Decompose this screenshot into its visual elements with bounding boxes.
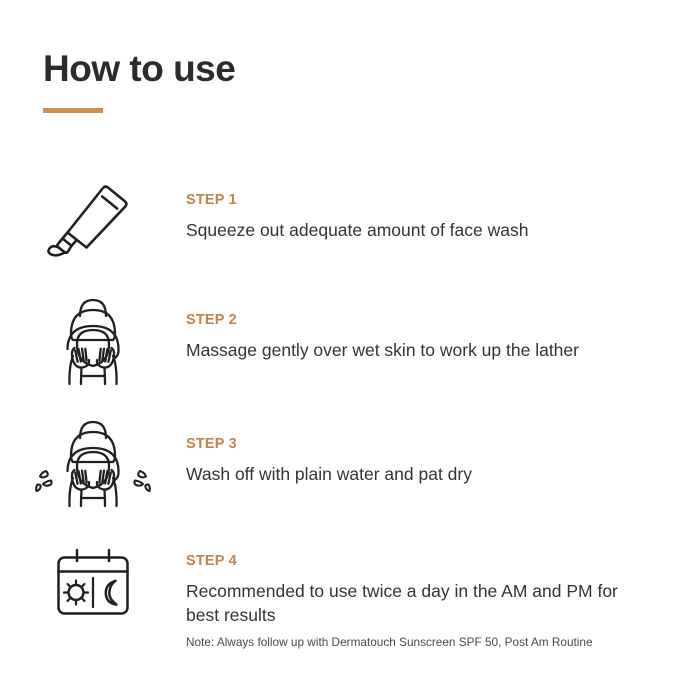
step-text: Squeeze out adequate amount of face wash [186,218,646,243]
step-text: Recommended to use twice a day in the AM… [186,579,646,629]
how-to-use-panel: How to use STEP 1 [0,0,700,700]
step-label: STEP 3 [186,437,700,452]
title-accent-rule [43,108,103,113]
list-item: STEP 3 Wash off with plain water and pat… [0,412,700,532]
step-label: STEP 2 [186,313,700,328]
step-note: Note: Always follow up with Dermatouch S… [186,635,700,650]
face-massage-icon [0,288,186,392]
face-rinse-splash-icon [0,412,186,514]
step-content: STEP 3 Wash off with plain water and pat… [186,412,700,486]
list-item: STEP 2 Massage gently over wet skin to w… [0,288,700,412]
calendar-sun-moon-icon [0,532,186,620]
step-content: STEP 4 Recommended to use twice a day in… [186,532,700,651]
step-label: STEP 1 [186,193,700,208]
list-item: STEP 1 Squeeze out adequate amount of fa… [0,168,700,288]
steps-list: STEP 1 Squeeze out adequate amount of fa… [0,168,700,652]
step-content: STEP 2 Massage gently over wet skin to w… [186,288,700,362]
header: How to use [43,50,235,113]
list-item: STEP 4 Recommended to use twice a day in… [0,532,700,652]
step-content: STEP 1 Squeeze out adequate amount of fa… [186,168,700,242]
page-title: How to use [43,50,235,89]
step-label: STEP 4 [186,554,700,569]
tube-squeeze-icon [0,168,186,266]
step-text: Massage gently over wet skin to work up … [186,338,646,363]
step-text: Wash off with plain water and pat dry [186,462,646,487]
